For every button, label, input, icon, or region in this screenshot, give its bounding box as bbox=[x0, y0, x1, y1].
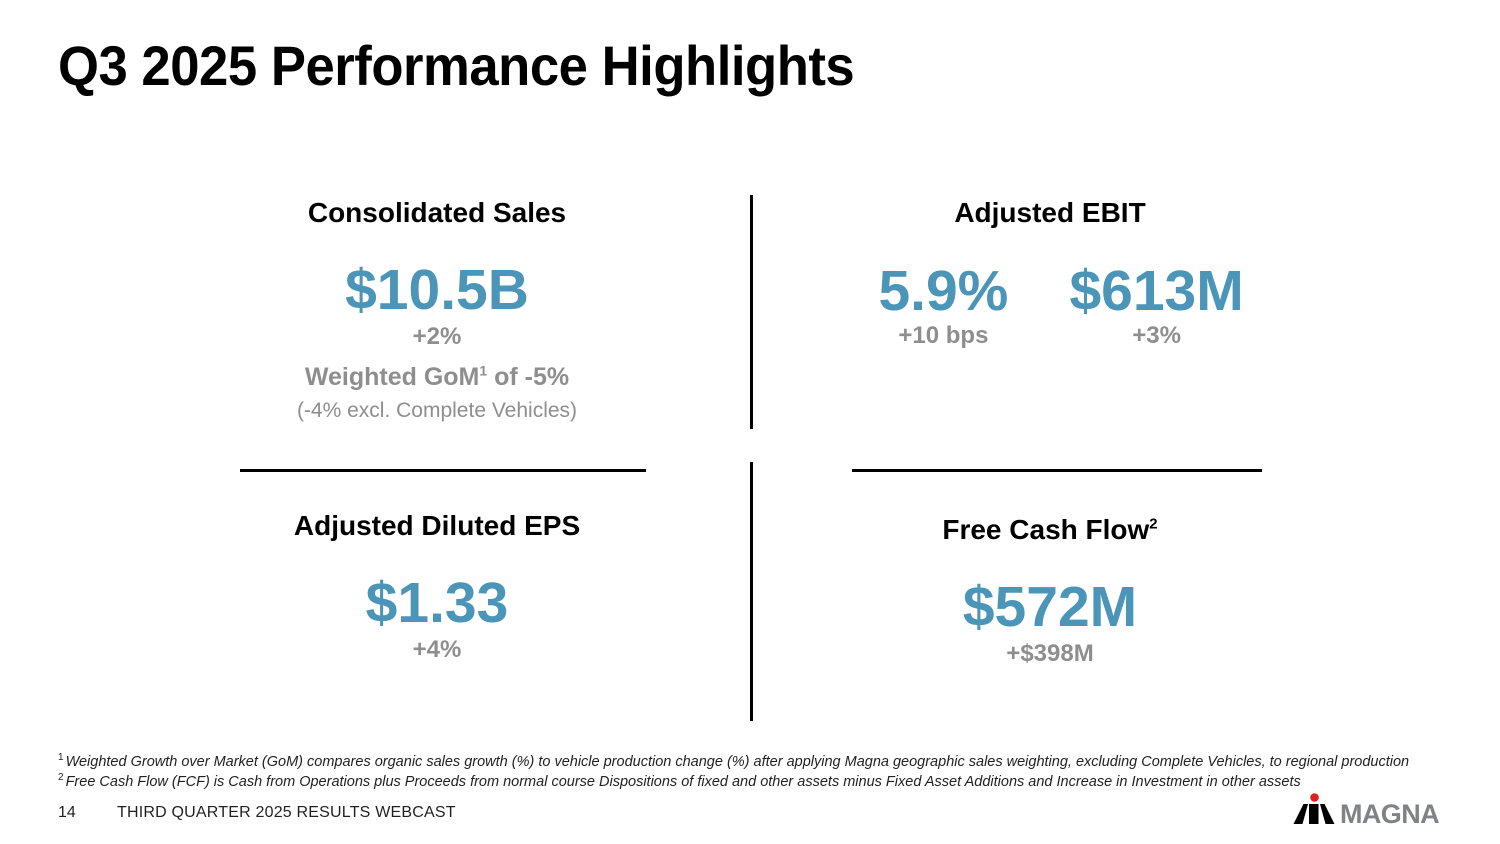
magna-logo-svg: MAGNA bbox=[1293, 793, 1445, 829]
metric-delta-ebit-dollars: +3% bbox=[1058, 322, 1255, 350]
footnote-marker-2: 2 bbox=[1149, 516, 1157, 533]
footnote-2: 2Free Cash Flow (FCF) is Cash from Opera… bbox=[58, 772, 1458, 792]
metric-delta-consolidated-sales: +2% bbox=[237, 323, 637, 351]
horizontal-divider-right bbox=[852, 469, 1262, 472]
metric-value-ebit-dollars: $613M bbox=[1058, 262, 1255, 322]
metric-subnote-consolidated-sales: (-4% excl. Complete Vehicles) bbox=[237, 398, 637, 423]
metric-column-ebit-margin: 5.9% +10 bps bbox=[845, 262, 1042, 349]
vertical-divider-top bbox=[750, 195, 753, 429]
metric-column-ebit-dollars: $613M +3% bbox=[1058, 262, 1255, 349]
metric-delta-ebit-margin: +10 bps bbox=[845, 322, 1042, 350]
metric-panel-adjusted-diluted-eps: Adjusted Diluted EPS $1.33 +4% bbox=[237, 511, 637, 663]
metric-note-suffix: of -5% bbox=[487, 363, 569, 391]
footnote-2-text: Free Cash Flow (FCF) is Cash from Operat… bbox=[66, 774, 1301, 790]
metric-group-adjusted-ebit: 5.9% +10 bps $613M +3% bbox=[845, 262, 1255, 349]
deck-title: THIRD QUARTER 2025 RESULTS WEBCAST bbox=[117, 804, 456, 822]
footnotes: 1Weighted Growth over Market (GoM) compa… bbox=[58, 752, 1458, 792]
panel-heading-free-cash-flow: Free Cash Flow2 bbox=[845, 515, 1255, 546]
footnote-1-marker: 1 bbox=[58, 752, 66, 763]
vertical-divider-bottom bbox=[750, 462, 753, 721]
magna-logo-mark-icon bbox=[1294, 804, 1335, 824]
panel-heading-consolidated-sales: Consolidated Sales bbox=[237, 198, 637, 229]
metric-note-weighted-gom: Weighted GoM1 of -5% bbox=[237, 362, 637, 392]
magna-logo-dot-icon bbox=[1310, 793, 1319, 802]
metric-delta-free-cash-flow: +$398M bbox=[845, 640, 1255, 668]
horizontal-divider-left bbox=[240, 469, 646, 472]
metric-panel-adjusted-ebit: Adjusted EBIT 5.9% +10 bps $613M +3% bbox=[845, 198, 1255, 349]
page-number: 14 bbox=[58, 804, 76, 822]
metric-value-adjusted-diluted-eps: $1.33 bbox=[237, 574, 637, 634]
metric-value-consolidated-sales: $10.5B bbox=[237, 261, 637, 321]
metric-note-prefix: Weighted GoM bbox=[305, 363, 480, 391]
page-title: Q3 2025 Performance Highlights bbox=[58, 33, 854, 98]
panel-heading-adjusted-diluted-eps: Adjusted Diluted EPS bbox=[237, 511, 637, 542]
metric-value-free-cash-flow: $572M bbox=[845, 578, 1255, 638]
panel-heading-adjusted-ebit: Adjusted EBIT bbox=[845, 198, 1255, 229]
metric-panel-consolidated-sales: Consolidated Sales $10.5B +2% Weighted G… bbox=[237, 198, 637, 423]
metric-value-ebit-margin: 5.9% bbox=[845, 262, 1042, 322]
metric-delta-adjusted-diluted-eps: +4% bbox=[237, 636, 637, 664]
footnote-2-marker: 2 bbox=[58, 772, 66, 783]
magna-logo: MAGNA bbox=[1293, 793, 1445, 829]
slide-canvas: Q3 2025 Performance Highlights Consolida… bbox=[0, 0, 1500, 844]
metric-panel-free-cash-flow: Free Cash Flow2 $572M +$398M bbox=[845, 515, 1255, 667]
footnote-1-text: Weighted Growth over Market (GoM) compar… bbox=[66, 754, 1410, 770]
footnote-1: 1Weighted Growth over Market (GoM) compa… bbox=[58, 752, 1458, 772]
panel-heading-free-cash-flow-text: Free Cash Flow bbox=[942, 514, 1149, 545]
magna-logo-wordmark: MAGNA bbox=[1340, 799, 1439, 829]
